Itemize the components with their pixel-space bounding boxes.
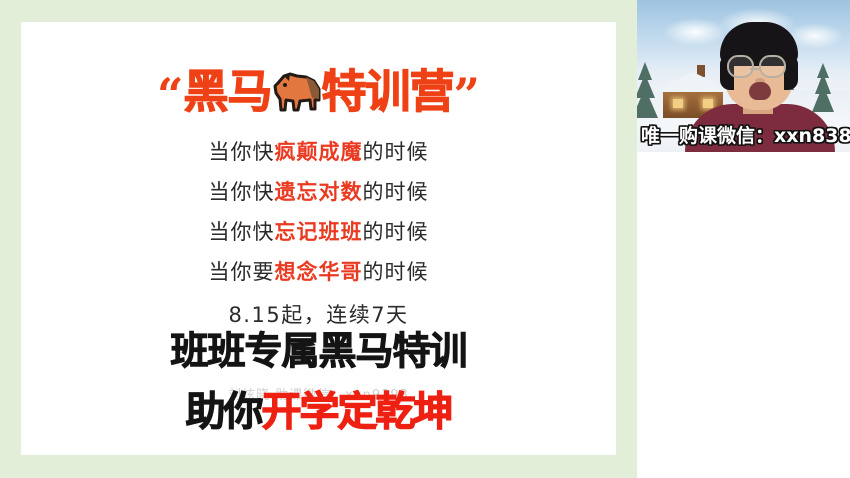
- title-text-after-horse: 特训营: [322, 69, 454, 114]
- poem-line-2: 当你快遗忘对数的时候: [21, 172, 616, 212]
- course-date-line: 8.15起，连续7天: [21, 299, 616, 329]
- poem-line-1-suffix: 的时候: [363, 140, 429, 164]
- poem-line-2-highlight: 遗忘对数: [275, 180, 363, 204]
- headline-primary: 班班专属黑马特训: [21, 332, 616, 372]
- screen-root: “ 黑马 特训营 ” 当你快疯颠成魔的时候: [0, 0, 850, 478]
- headline-secondary: 助你开学定乾坤: [21, 391, 616, 433]
- slide-card: “ 黑马 特训营 ” 当你快疯颠成魔的时候: [21, 22, 616, 455]
- close-quote-mark: ”: [454, 72, 480, 118]
- poem-line-1-highlight: 疯颠成魔: [275, 140, 363, 164]
- poem-line-4-highlight: 想念华哥: [275, 260, 363, 284]
- horse-icon: [270, 69, 324, 119]
- poem-block: 当你快疯颠成魔的时候 当你快遗忘对数的时候 当你快忘记班班的时候 当你要想念华哥…: [21, 132, 616, 292]
- poem-line-3-highlight: 忘记班班: [275, 220, 363, 244]
- headline-secondary-black: 助你: [186, 389, 262, 435]
- poem-line-3-suffix: 的时候: [363, 220, 429, 244]
- glasses-bridge: [750, 68, 759, 70]
- slide-title: “ 黑马 特训营 ”: [21, 60, 616, 122]
- poem-line-3: 当你快忘记班班的时候: [21, 212, 616, 252]
- headline-secondary-red: 开学定乾坤: [262, 389, 452, 435]
- poem-line-1-prefix: 当你快: [209, 140, 275, 164]
- poem-line-4: 当你要想念华哥的时候: [21, 252, 616, 292]
- poem-line-1: 当你快疯颠成魔的时候: [21, 132, 616, 172]
- open-quote-mark: “: [157, 72, 183, 118]
- glasses-icon: [759, 55, 786, 78]
- poem-line-3-prefix: 当你快: [209, 220, 275, 244]
- webcam-video-panel[interactable]: 唯一购课微信：xxn8383: [637, 0, 850, 152]
- poem-line-2-suffix: 的时候: [363, 180, 429, 204]
- glasses-icon: [727, 55, 754, 78]
- poem-line-2-prefix: 当你快: [209, 180, 275, 204]
- presentation-slide-area: “ 黑马 特训营 ” 当你快疯颠成魔的时候: [0, 0, 637, 478]
- poem-line-4-suffix: 的时候: [363, 260, 429, 284]
- poem-line-4-prefix: 当你要: [209, 260, 275, 284]
- streamer-mouth: [749, 82, 771, 100]
- webcam-caption-text: 唯一购课微信：xxn8383: [637, 124, 850, 148]
- title-text-before-horse: 黑马: [183, 69, 271, 114]
- cabin-window: [673, 99, 683, 108]
